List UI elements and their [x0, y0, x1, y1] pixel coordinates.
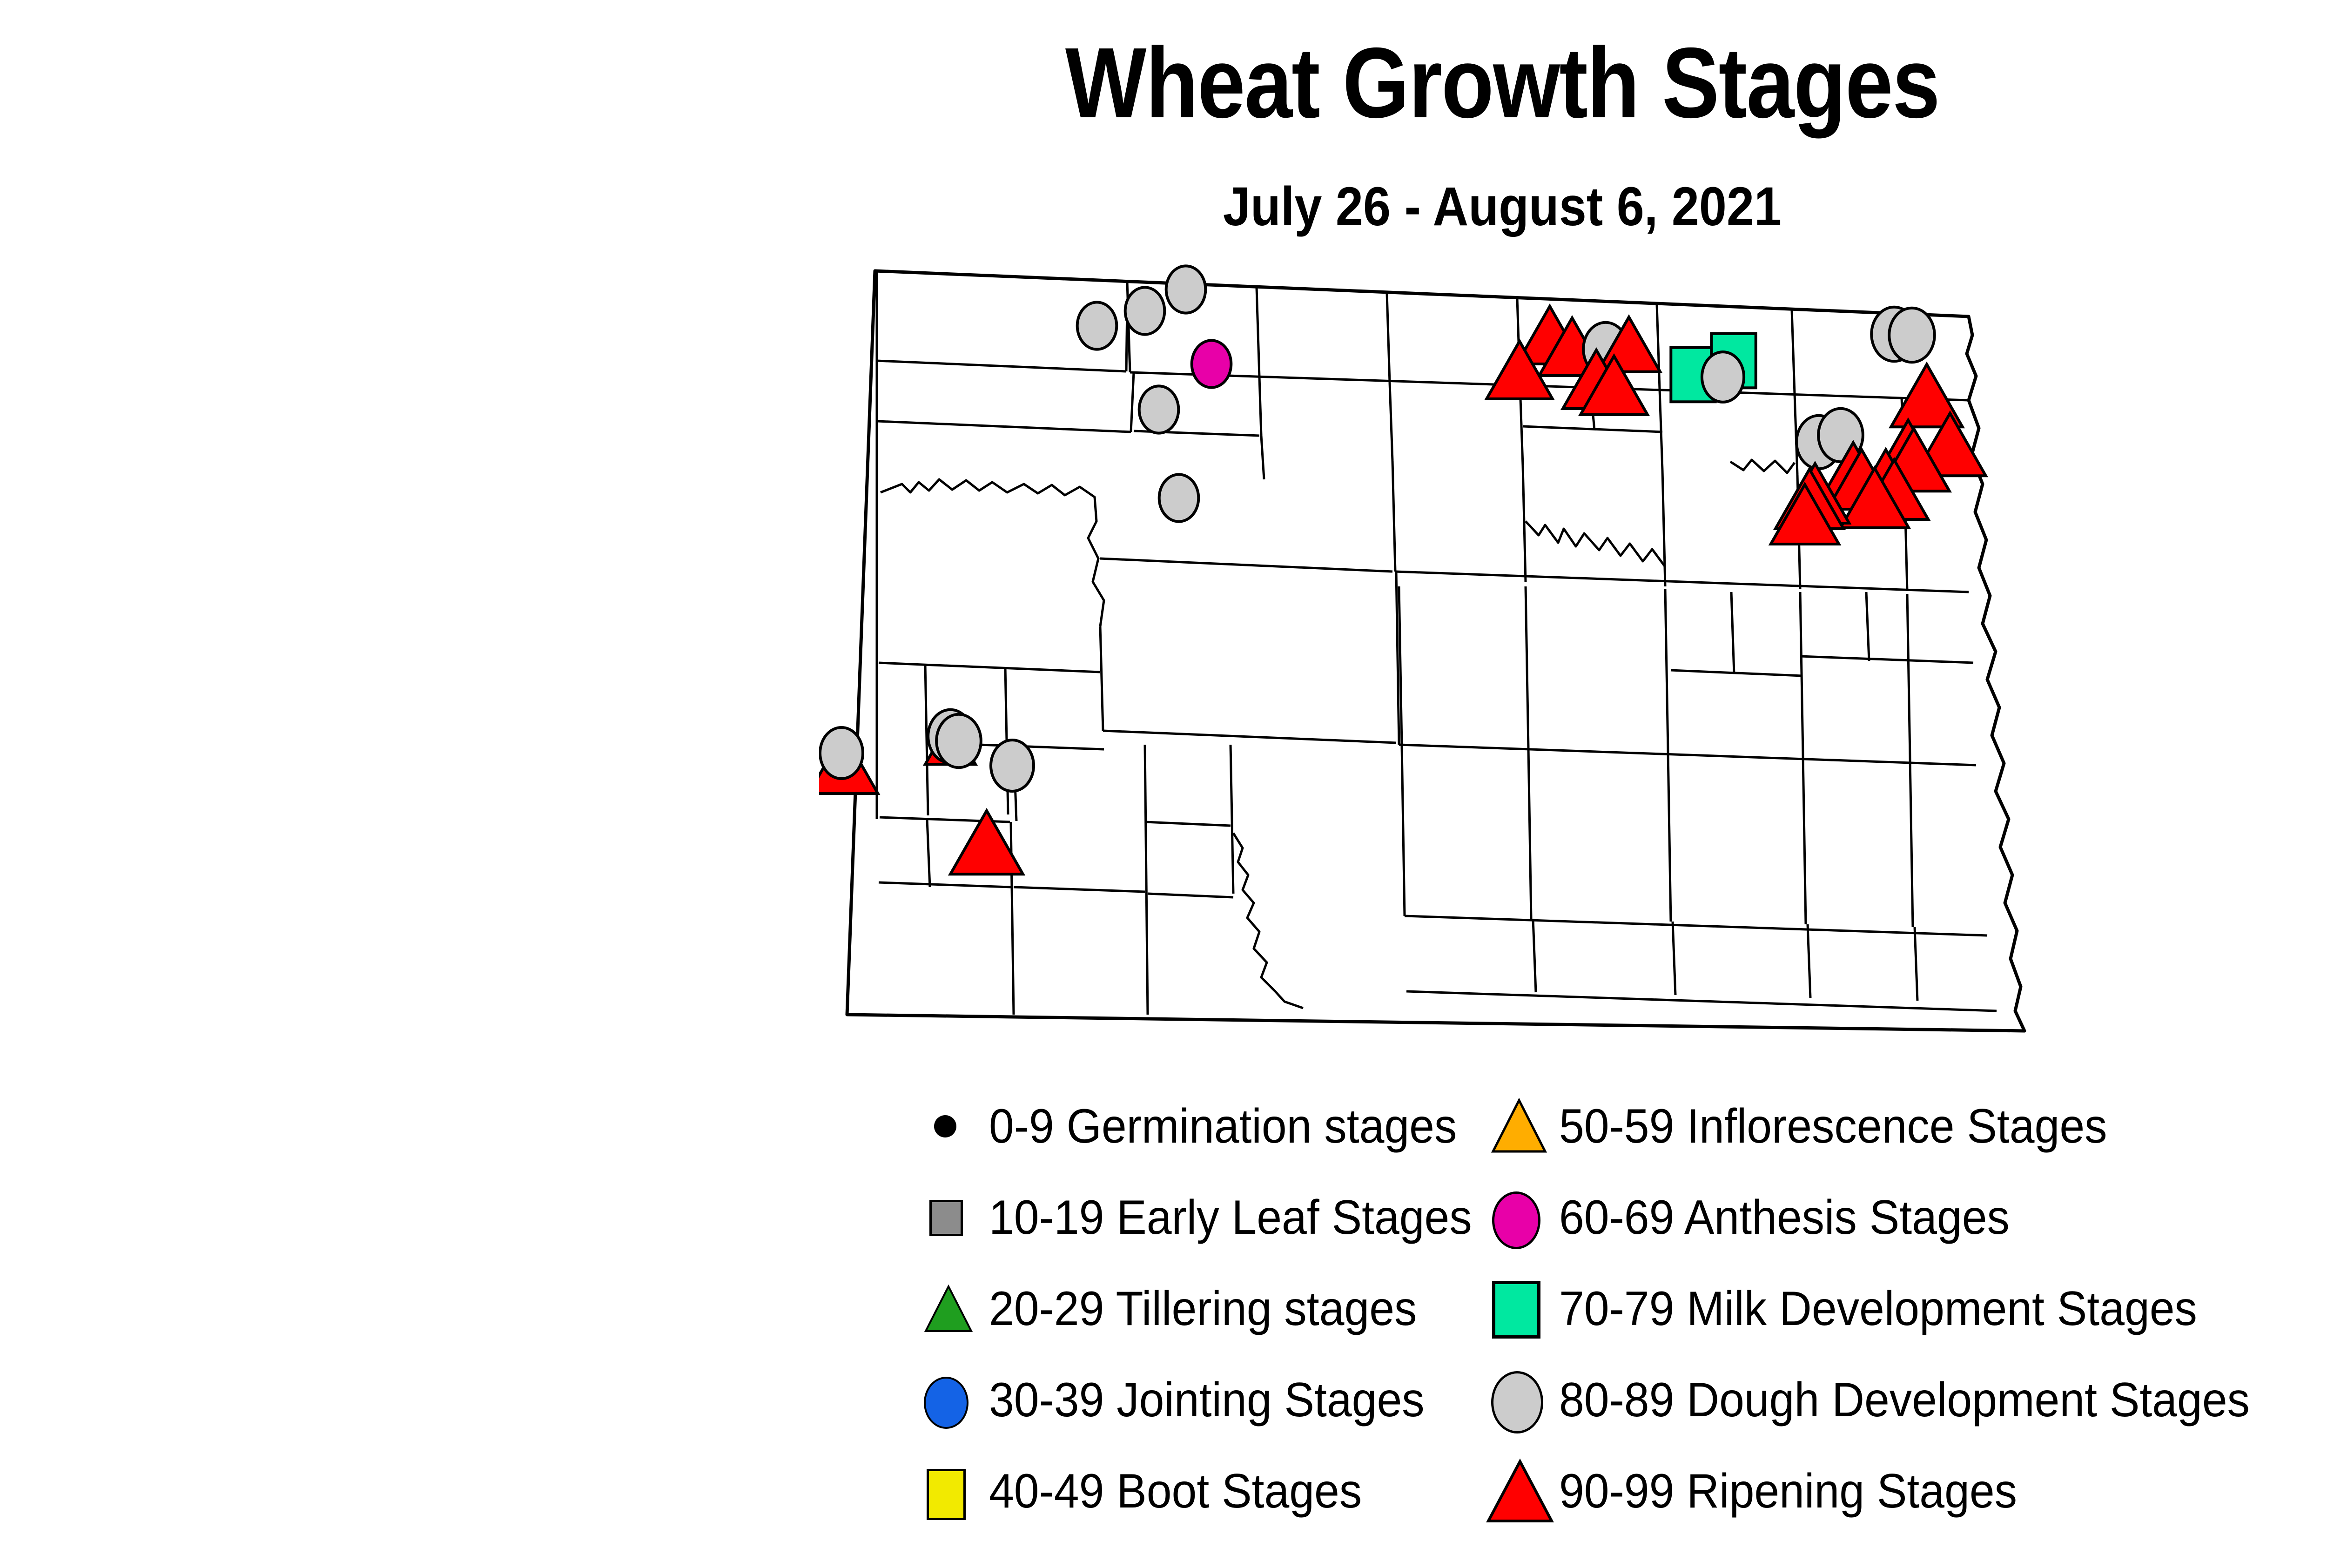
tillering-triangle-icon — [910, 1262, 989, 1355]
germination-dot-icon — [910, 1080, 989, 1173]
legend-label-early-leaf: 10-19 Early Leaf Stages — [989, 1193, 1472, 1242]
map-marker — [820, 727, 863, 779]
legend-item-early-leaf[interactable]: 10-19 Early Leaf Stages — [910, 1171, 1508, 1264]
inflorescence-triangle-icon — [1480, 1080, 1559, 1173]
map-marker — [1125, 287, 1165, 334]
legend: 0-9 Germination stages 10-19 Early Leaf … — [910, 1080, 2306, 1545]
jointing-circle-icon — [910, 1353, 989, 1447]
map-marker — [991, 740, 1034, 791]
map-marker — [1159, 474, 1199, 521]
map-marker — [1139, 386, 1179, 433]
map-svg — [819, 261, 2122, 1052]
legend-label-milk: 70-79 Milk Development Stages — [1559, 1285, 2197, 1333]
dough-circle-icon — [1480, 1353, 1559, 1447]
anthesis-circle-icon — [1480, 1171, 1559, 1264]
map-county-outlines — [847, 271, 2024, 1031]
ripening-triangle-icon — [1480, 1445, 1559, 1538]
boot-square-icon — [910, 1445, 989, 1538]
legend-item-germination[interactable]: 0-9 Germination stages — [910, 1080, 1492, 1173]
page-title: Wheat Growth Stages — [210, 33, 2327, 133]
map-marker — [936, 714, 981, 767]
legend-item-jointing[interactable]: 30-39 Jointing Stages — [910, 1353, 1457, 1447]
legend-item-inflorescence[interactable]: 50-59 Inflorescence Stages — [1480, 1080, 2148, 1173]
page-subtitle: July 26 - August 6, 2021 — [150, 179, 2327, 234]
map-marker — [1077, 302, 1117, 349]
legend-item-milk[interactable]: 70-79 Milk Development Stages — [1480, 1262, 2245, 1355]
north-dakota-map — [819, 261, 2122, 1052]
legend-label-germination: 0-9 Germination stages — [989, 1102, 1457, 1151]
map-marker — [1702, 352, 1744, 402]
legend-item-tillering[interactable]: 20-29 Tillering stages — [910, 1262, 1449, 1355]
legend-item-ripening[interactable]: 90-99 Ripening Stages — [1480, 1445, 2051, 1538]
legend-item-boot[interactable]: 40-49 Boot Stages — [910, 1445, 1390, 1538]
milk-square-icon — [1480, 1262, 1559, 1355]
legend-item-anthesis[interactable]: 60-69 Anthesis Stages — [1480, 1171, 2044, 1264]
legend-label-jointing: 30-39 Jointing Stages — [989, 1376, 1425, 1424]
legend-label-boot: 40-49 Boot Stages — [989, 1467, 1362, 1515]
map-marker — [1889, 308, 1935, 363]
map-marker — [1192, 340, 1231, 387]
legend-label-tillering: 20-29 Tillering stages — [989, 1285, 1417, 1333]
legend-label-ripening: 90-99 Ripening Stages — [1559, 1467, 2017, 1515]
legend-item-dough[interactable]: 80-89 Dough Development Stages — [1480, 1353, 2302, 1447]
wheat-growth-stages-map-figure: Wheat Growth Stages July 26 - August 6, … — [0, 0, 2327, 1568]
legend-label-anthesis: 60-69 Anthesis Stages — [1559, 1193, 2010, 1242]
map-marker — [1166, 266, 1206, 313]
legend-label-dough: 80-89 Dough Development Stages — [1559, 1376, 2250, 1424]
legend-label-inflorescence: 50-59 Inflorescence Stages — [1559, 1102, 2107, 1151]
early-leaf-square-icon — [910, 1171, 989, 1264]
